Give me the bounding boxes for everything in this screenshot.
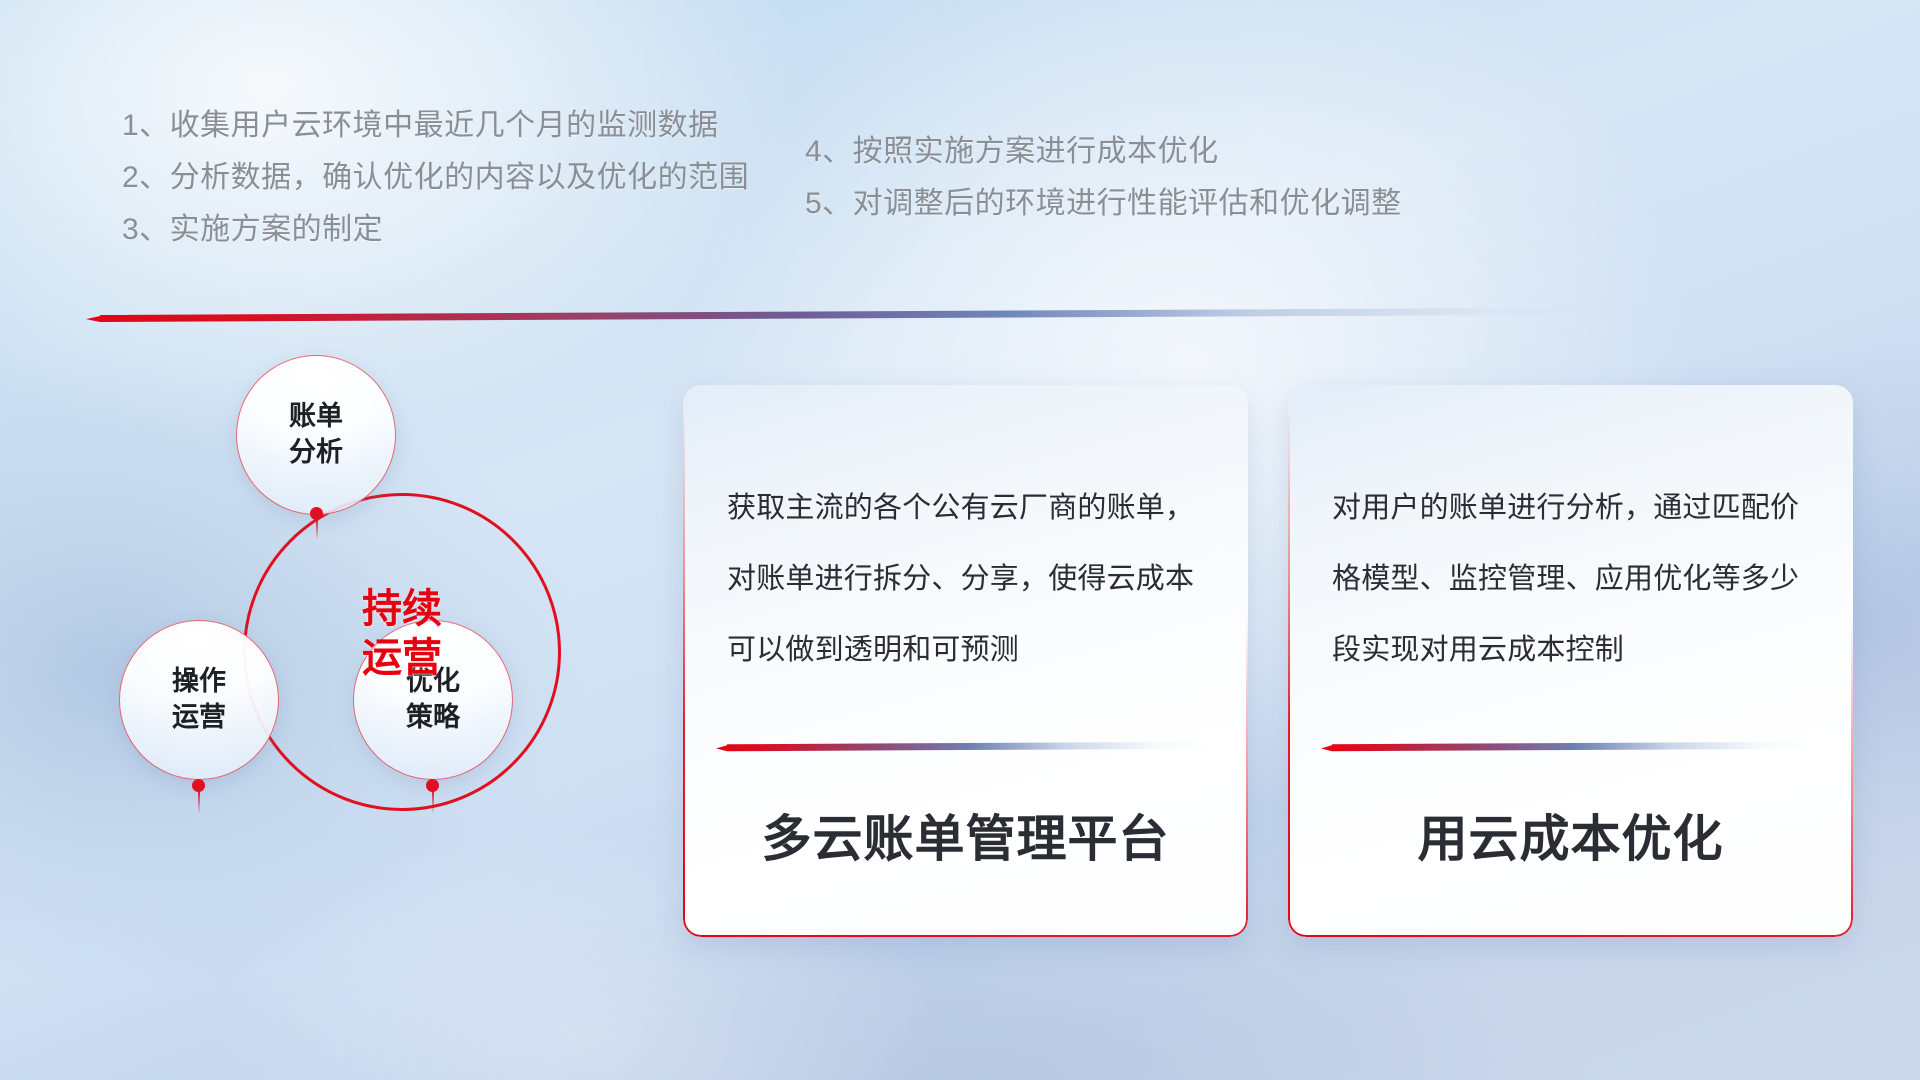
step-item-5: 5、对调整后的环境进行性能评估和优化调整 [805, 178, 1402, 222]
step-item-4: 4、按照实施方案进行成本优化 [805, 126, 1219, 170]
venn-center-label: 持续 运营 [317, 585, 487, 683]
venn-center-label-line1: 持续 [317, 585, 487, 634]
venn-pin-tail-top [316, 518, 318, 540]
venn-pin-dot-left [192, 779, 205, 792]
step-item-3: 3、实施方案的制定 [122, 204, 383, 248]
venn-center-label-line2: 运营 [317, 634, 487, 683]
venn-pin-dot-right [426, 779, 439, 792]
venn-pin-dot-top [310, 507, 323, 520]
card-divider-rule [1332, 742, 1817, 752]
venn-bubble-operations[interactable]: 操作 运营 [119, 620, 279, 780]
venn-bubble-label-line2: 运营 [172, 700, 226, 736]
venn-diagram: 账单 分析 操作 运营 优化 策略 持续 运营 [95, 355, 655, 955]
venn-pin-tail-left [198, 790, 200, 814]
steps-list: 1、收集用户云环境中最近几个月的监测数据 2、分析数据，确认优化的内容以及优化的… [0, 0, 1920, 300]
card-body-text: 对用户的账单进行分析，通过匹配价格模型、监控管理、应用优化等多少段实现对用云成本… [1332, 473, 1817, 686]
card-title: 用云成本优化 [1288, 799, 1853, 871]
card-multicloud-billing-platform[interactable]: 获取主流的各个公有云厂商的账单，对账单进行拆分、分享，使得云成本可以做到透明和可… [683, 385, 1248, 937]
venn-pin-tail-right [432, 790, 434, 814]
card-title: 多云账单管理平台 [683, 799, 1248, 871]
card-divider-rule [727, 742, 1212, 752]
venn-bubble-label-line1: 账单 [289, 399, 343, 435]
venn-bubble-label-line1: 操作 [172, 664, 226, 700]
venn-bubble-label-line2: 分析 [289, 435, 343, 471]
venn-bubble-billing-analysis[interactable]: 账单 分析 [236, 355, 396, 515]
card-body-text: 获取主流的各个公有云厂商的账单，对账单进行拆分、分享，使得云成本可以做到透明和可… [727, 473, 1212, 686]
step-item-2: 2、分析数据，确认优化的内容以及优化的范围 [122, 152, 749, 196]
step-item-1: 1、收集用户云环境中最近几个月的监测数据 [122, 100, 719, 144]
venn-bubble-label-line2: 策略 [406, 700, 460, 736]
card-cloud-cost-optimization[interactable]: 对用户的账单进行分析，通过匹配价格模型、监控管理、应用优化等多少段实现对用云成本… [1288, 385, 1853, 937]
